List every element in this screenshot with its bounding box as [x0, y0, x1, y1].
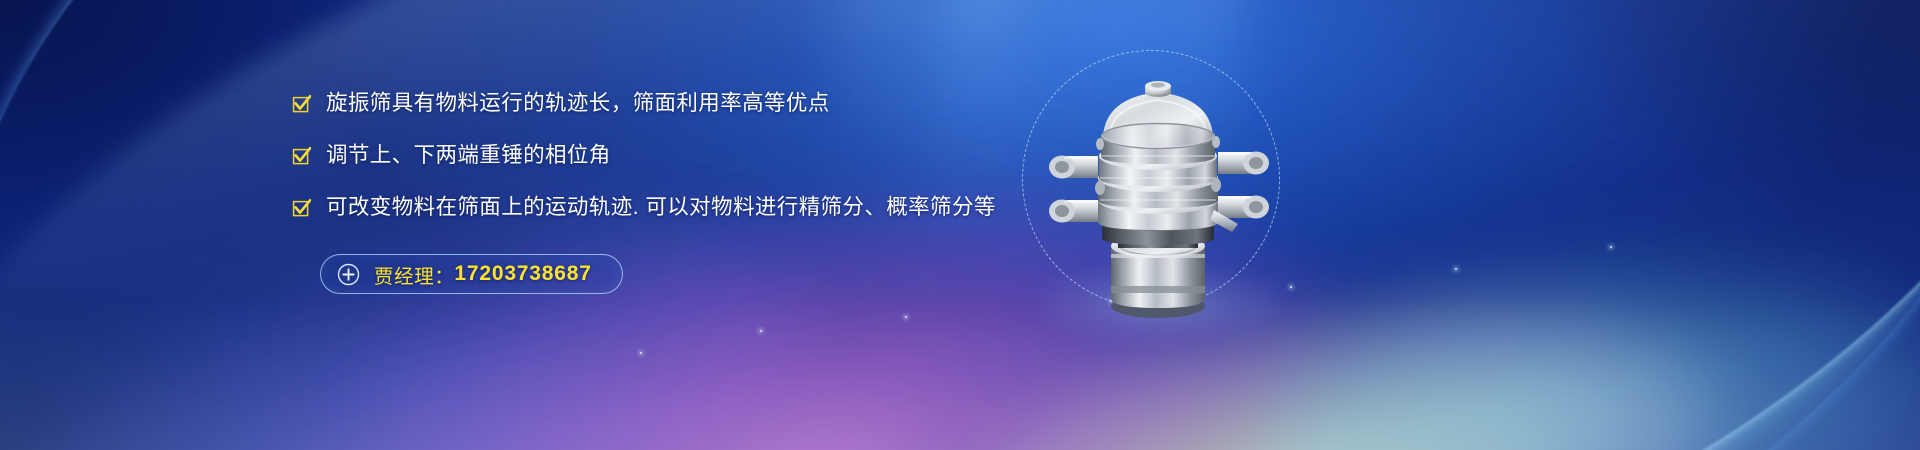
sparkle-dot [905, 316, 907, 318]
feature-list-item-label: 旋振筛具有物料运行的轨迹长，筛面利用率高等优点 [326, 88, 830, 118]
contact-name-label: 贾经理： [374, 260, 454, 289]
product-image-area [1000, 18, 1320, 338]
contact-button[interactable]: 贾经理： 17203738687 [320, 254, 623, 294]
checkbox-checked-icon [292, 147, 311, 166]
contact-phone-number: 17203738687 [454, 262, 591, 286]
feature-list-item: 调节上、下两端重锤的相位角 [292, 140, 1052, 170]
plus-circle-icon [337, 263, 360, 286]
checkbox-checked-icon [292, 199, 311, 218]
sparkle-dot [640, 352, 642, 354]
feature-list-item-label: 调节上、下两端重锤的相位角 [326, 140, 611, 170]
sparkle-dot [1455, 268, 1457, 270]
feature-list-item-label: 可改变物料在筛面上的运动轨迹. 可以对物料进行精筛分、概率筛分等 [326, 192, 996, 222]
sparkle-dot [760, 330, 762, 332]
feature-list-item: 可改变物料在筛面上的运动轨迹. 可以对物料进行精筛分、概率筛分等 [292, 192, 1052, 222]
feature-list: 旋振筛具有物料运行的轨迹长，筛面利用率高等优点 调节上、下两端重锤的相位角 可改… [292, 88, 1052, 294]
checkbox-checked-icon [292, 95, 311, 114]
bottom-haze [0, 300, 1920, 450]
promo-banner: 旋振筛具有物料运行的轨迹长，筛面利用率高等优点 调节上、下两端重锤的相位角 可改… [0, 0, 1920, 450]
rotary-vibrating-screen-machine-icon [1006, 40, 1316, 340]
feature-list-item: 旋振筛具有物料运行的轨迹长，筛面利用率高等优点 [292, 88, 1052, 118]
sparkle-dot [1610, 246, 1612, 248]
